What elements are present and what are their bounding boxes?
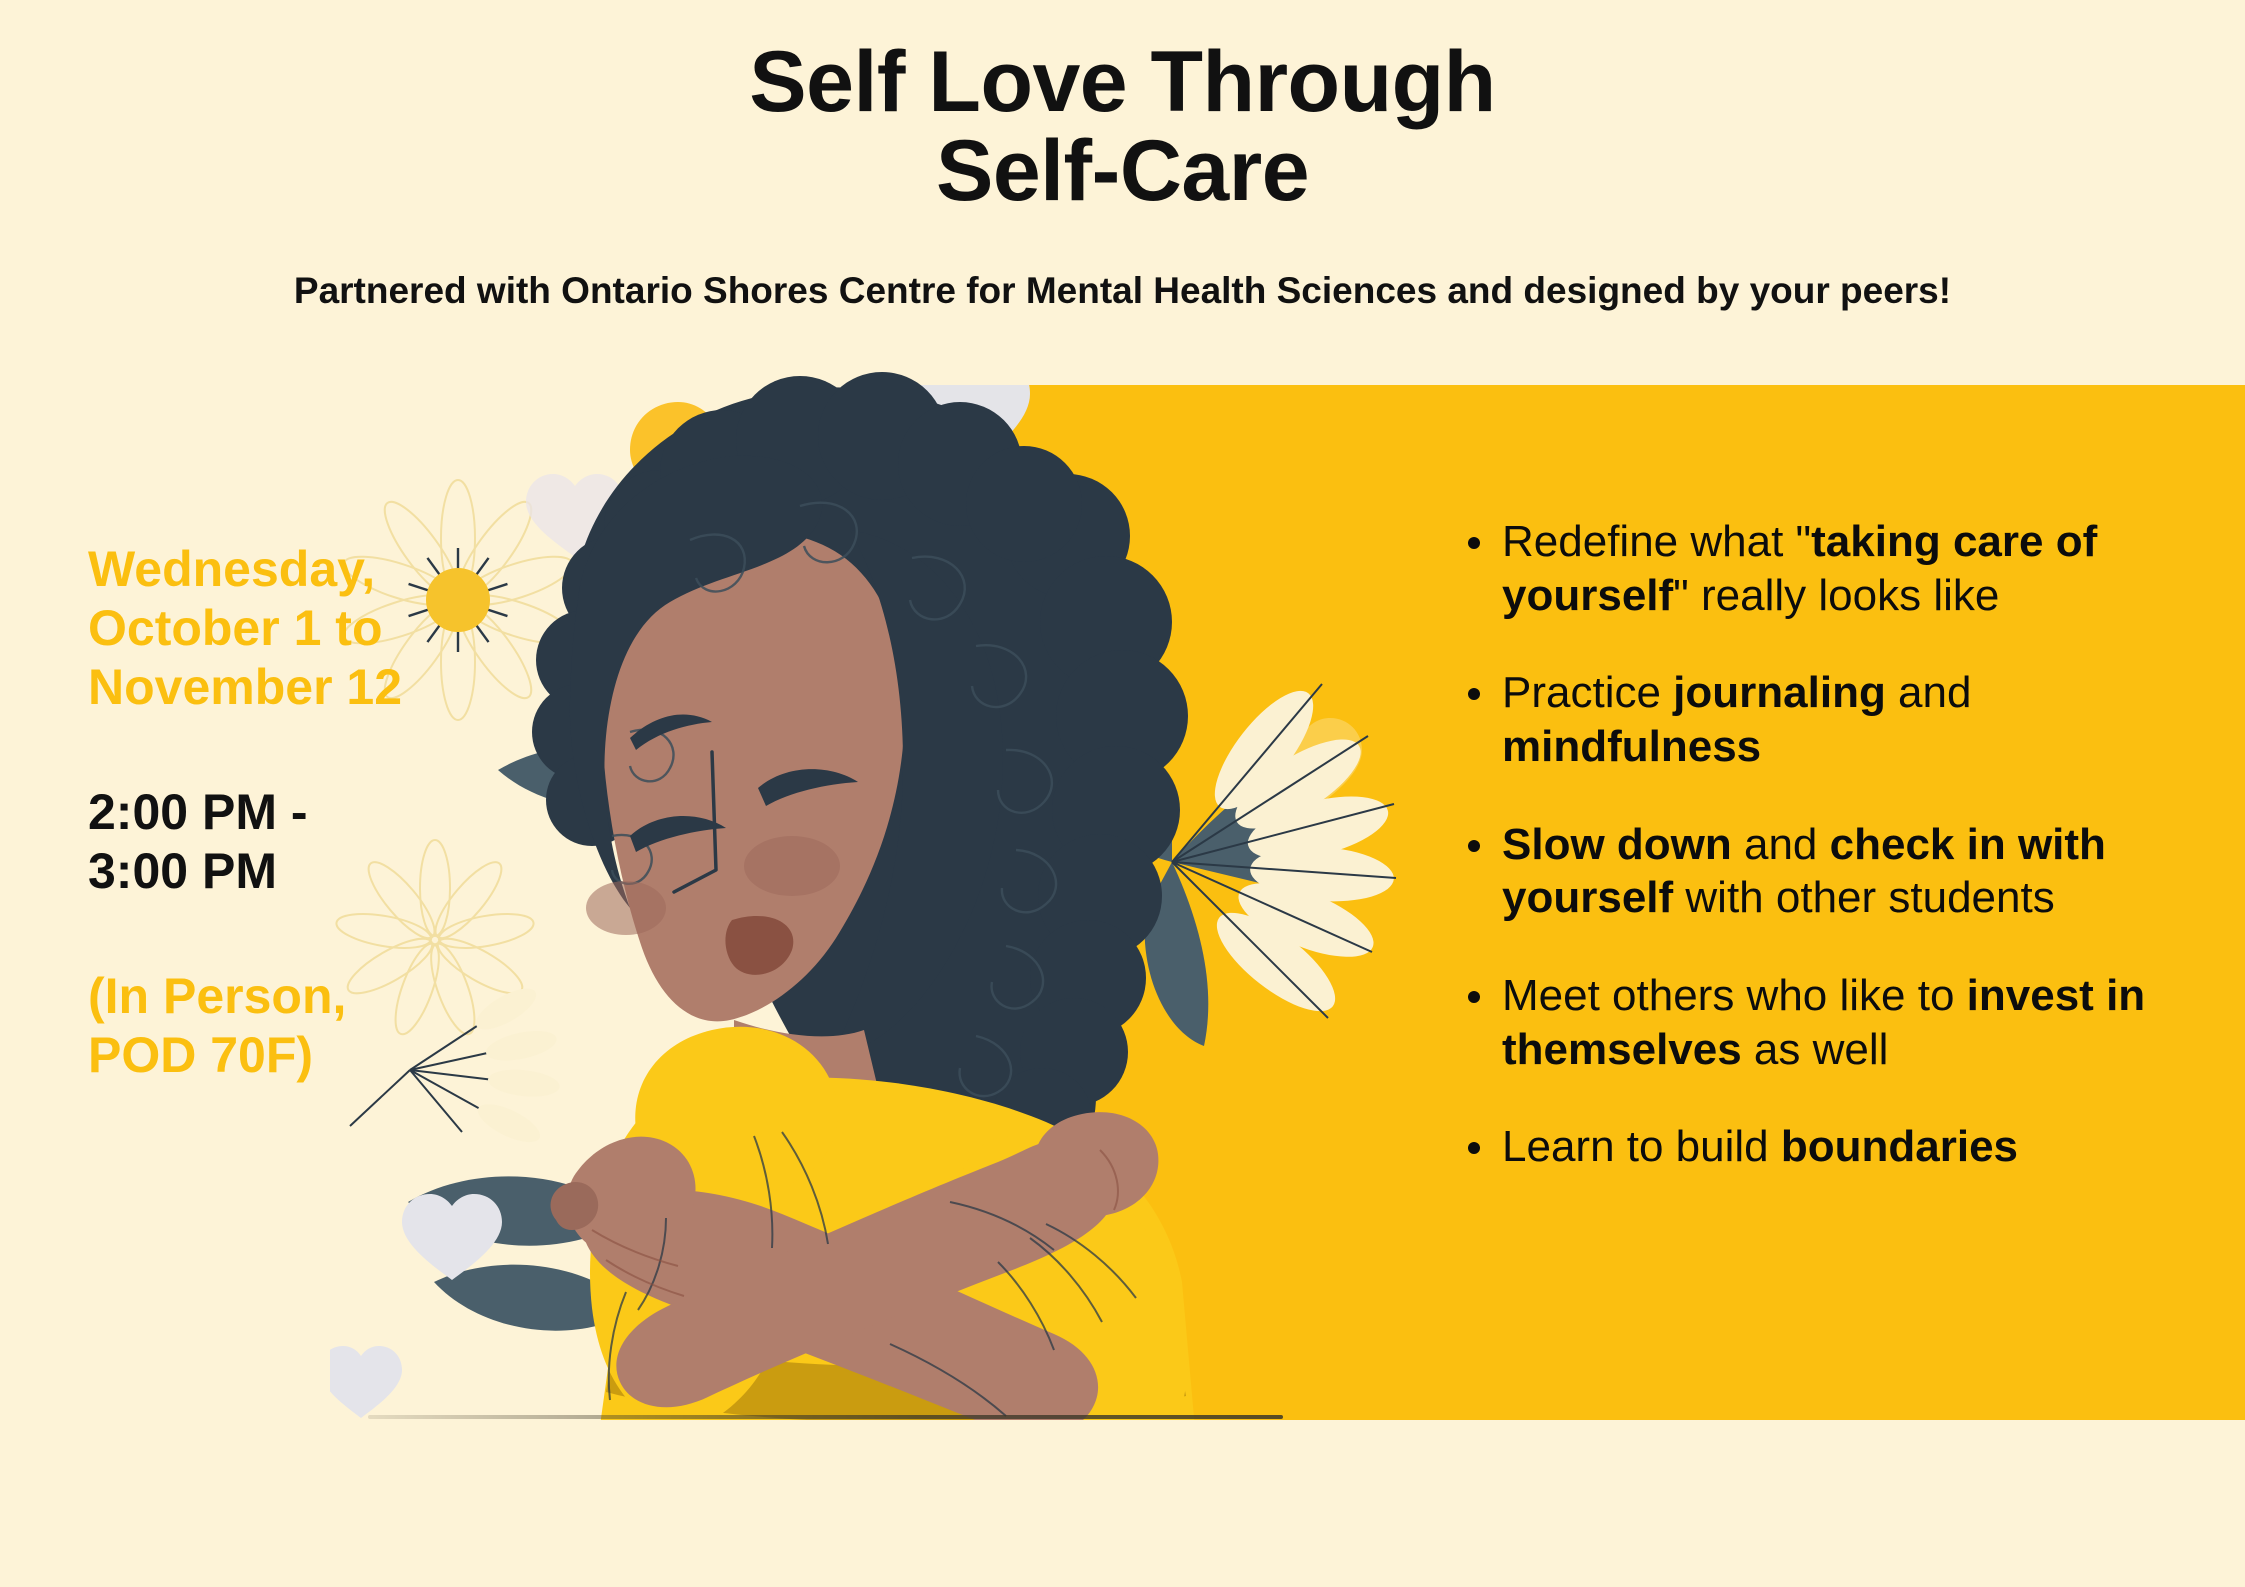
page-subtitle: Partnered with Ontario Shores Centre for… (223, 268, 2023, 315)
event-info-column: Wednesday, October 1 to November 12 2:00… (88, 540, 518, 1085)
bullet-text: Practice (1502, 668, 1673, 717)
bullet-emphasis: journaling (1673, 668, 1886, 717)
bullet-text: Meet others who like to (1502, 971, 1967, 1020)
page-title: Self Love Through Self-Care (0, 38, 2245, 217)
list-item: Slow down and check in with yourself wit… (1460, 818, 2200, 925)
program-highlights-list: Redefine what "taking care of yourself" … (1460, 515, 2200, 1174)
bullet-text: and (1886, 668, 1972, 717)
bullet-emphasis: Slow down (1502, 820, 1732, 869)
bullet-text: " really looks like (1673, 571, 1999, 620)
bullet-text: as well (1742, 1025, 1889, 1074)
list-item: Learn to build boundaries (1460, 1120, 2200, 1174)
bullet-text: and (1732, 820, 1830, 869)
list-item: Practice journaling and mindfulness (1460, 666, 2200, 773)
poster-root: Self Love Through Self-Care Partnered wi… (0, 0, 2245, 1587)
heart-grey-small-left (330, 1346, 402, 1418)
figure-woman (532, 372, 1196, 1440)
bullet-text: Learn to build (1502, 1122, 1781, 1171)
bullet-emphasis: boundaries (1781, 1122, 2018, 1171)
event-date: Wednesday, October 1 to November 12 (88, 540, 518, 717)
bullet-text: Redefine what " (1502, 517, 1811, 566)
event-time: 2:00 PM - 3:00 PM (88, 783, 518, 901)
event-location: (In Person, POD 70F) (88, 967, 518, 1085)
ground-shadow-line (368, 1415, 1283, 1419)
blush-left (586, 881, 666, 935)
list-item: Meet others who like to invest in themse… (1460, 969, 2200, 1076)
illustration-woman-hugging-herself (330, 330, 1590, 1440)
bullet-text: with other students (1673, 873, 2055, 922)
blush-right (744, 836, 840, 896)
list-item: Redefine what "taking care of yourself" … (1460, 515, 2200, 622)
bullet-emphasis: mindfulness (1502, 722, 1761, 771)
